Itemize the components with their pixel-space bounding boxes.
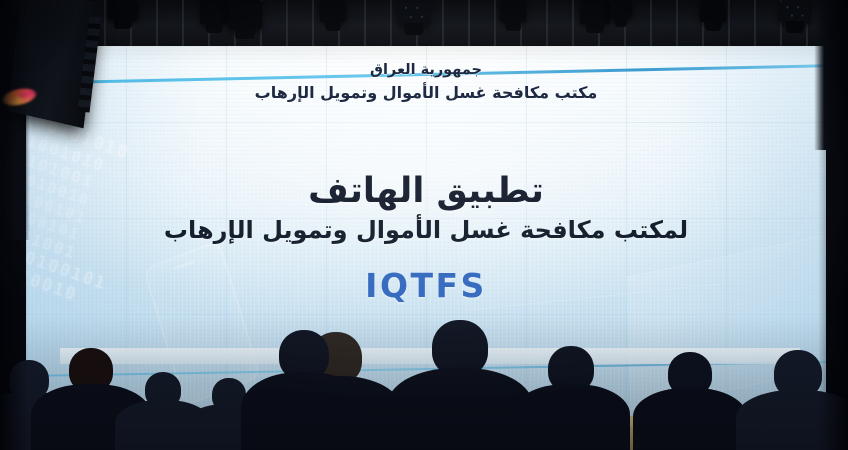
lamp-9-icon	[610, 0, 632, 18]
audience-row	[0, 310, 848, 450]
slide-org-country: جمهورية العراق	[26, 62, 826, 78]
lamp-10-icon	[700, 0, 726, 22]
lamp-8-icon	[580, 0, 610, 24]
slide-title-main: تطبيق الهاتف	[26, 171, 826, 211]
attendee-6	[258, 322, 350, 450]
lamp-2-icon	[108, 0, 138, 20]
lamp-4-icon	[228, 0, 262, 30]
attendee-8-shoulders	[512, 384, 630, 450]
attendee-8	[528, 338, 614, 450]
lamp-6-icon	[398, 0, 430, 26]
frame-shadow-left	[0, 0, 28, 450]
attendee-9-shoulders	[633, 388, 747, 450]
frame-shadow-right	[818, 0, 848, 450]
lamp-3-icon	[200, 0, 228, 24]
slide-org-name: مكتب مكافحة غسل الأموال وتمويل الإرهاب	[26, 83, 826, 102]
attendee-6-shoulders	[241, 372, 367, 450]
lamp-5-icon	[320, 0, 346, 22]
conference-photo: 0101001010100101001010001010011010010100…	[0, 0, 848, 450]
attendee-9	[648, 344, 732, 450]
lamp-11-icon	[780, 0, 810, 24]
slide-brand-iqtfs: IQTFS	[26, 266, 826, 305]
attendee-7	[408, 312, 512, 450]
slide-title-sub: لمكتب مكافحة غسل الأموال وتمويل الإرهاب	[26, 216, 826, 244]
lamp-7-icon	[500, 0, 526, 22]
